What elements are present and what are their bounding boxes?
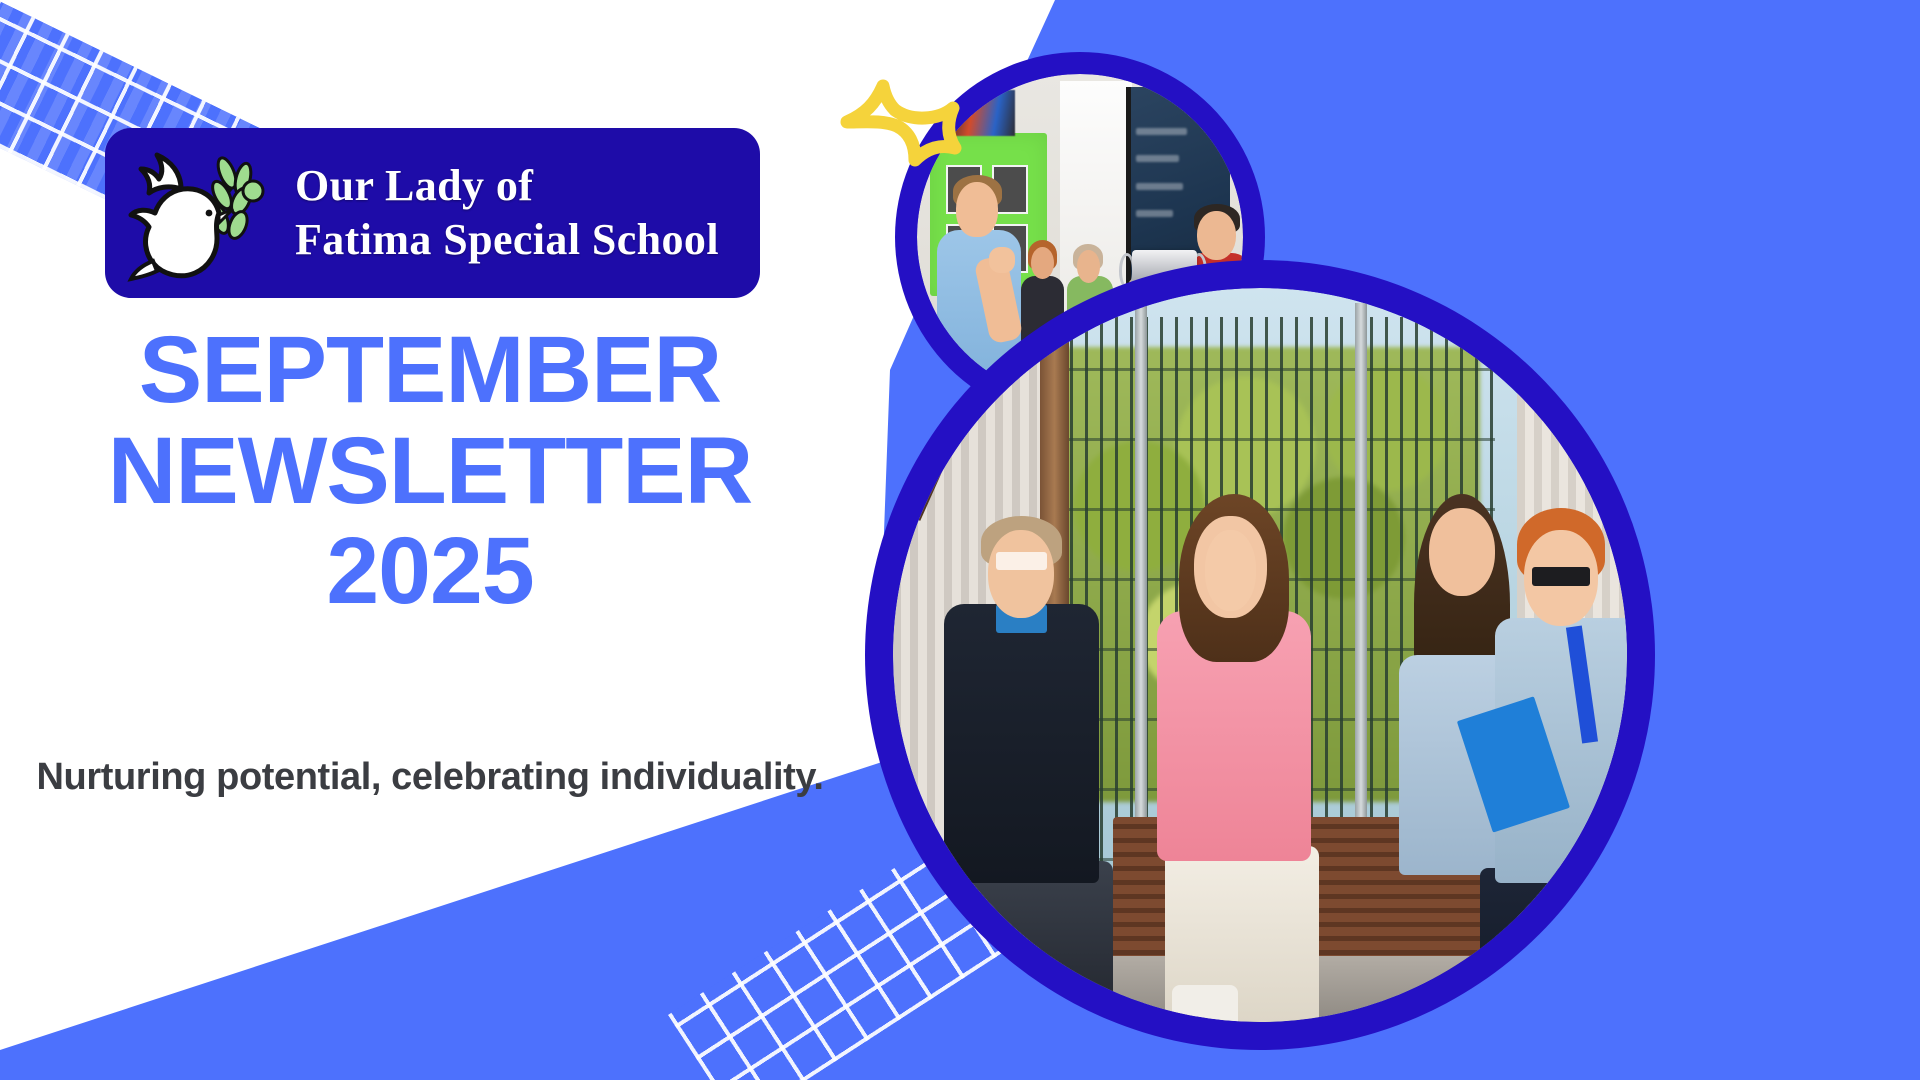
school-name-line1: Our Lady of (295, 159, 719, 213)
scene-outdoor-bench (893, 288, 1627, 1022)
school-name-line2: Fatima Special School (295, 213, 719, 267)
newsletter-cover: Our Lady of Fatima Special School SEPTEM… (0, 0, 1920, 1080)
photo-bottom (865, 260, 1655, 1050)
headline-line-month: SEPTEMBER (0, 320, 860, 421)
headline-line-newsletter: NEWSLETTER (0, 421, 860, 522)
school-name: Our Lady of Fatima Special School (277, 159, 719, 266)
school-tagline: Nurturing potential, celebrating individ… (0, 756, 860, 799)
photo-bottom-image (893, 288, 1627, 1022)
headline-line-year: 2025 (0, 521, 860, 622)
dove-with-olive-branch-icon (123, 143, 273, 283)
yellow-star-sparkle-icon (835, 30, 1005, 200)
school-logo-badge[interactable]: Our Lady of Fatima Special School (105, 128, 760, 298)
page-title: SEPTEMBER NEWSLETTER 2025 (0, 320, 860, 622)
